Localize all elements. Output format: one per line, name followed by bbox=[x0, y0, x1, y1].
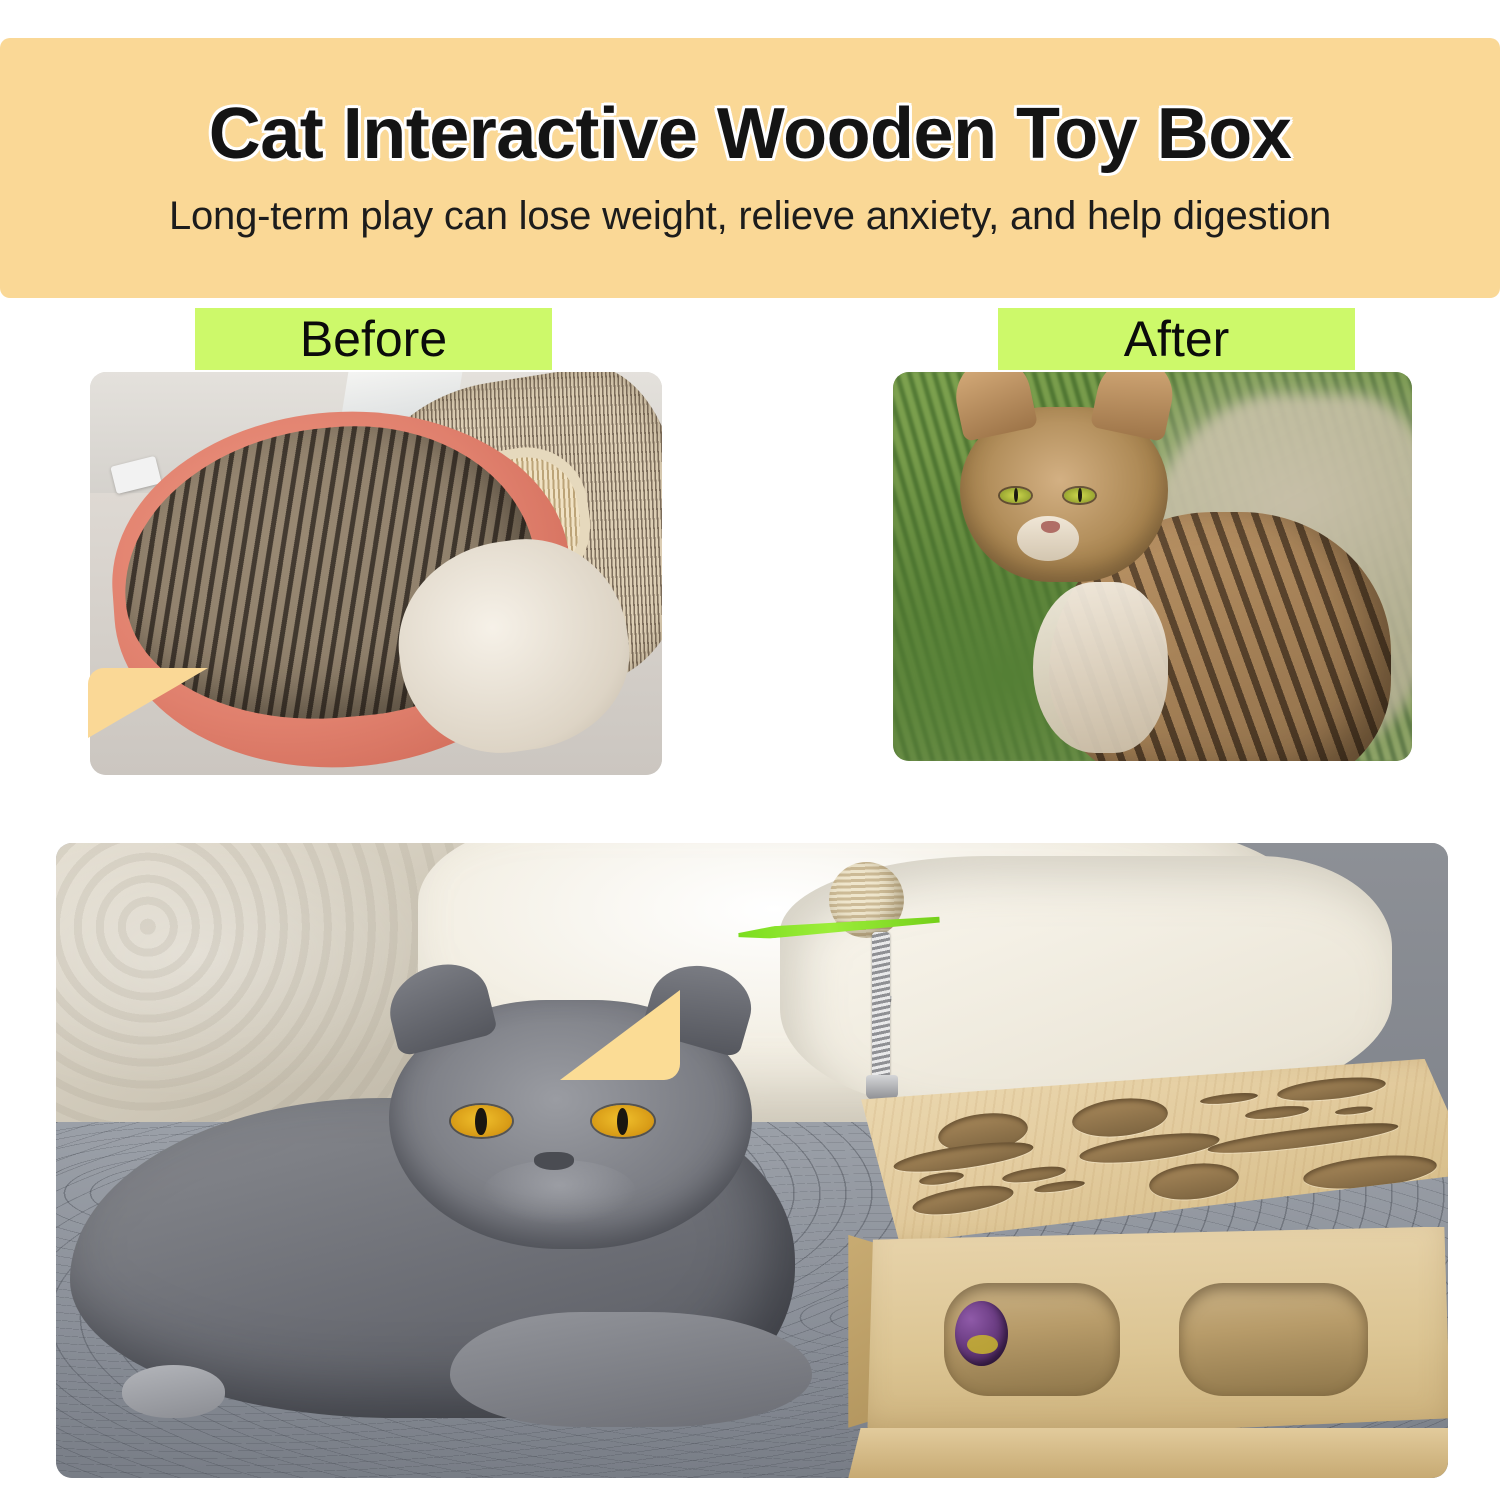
label-before: Before bbox=[300, 314, 447, 364]
main-product-photo bbox=[56, 843, 1448, 1478]
toy-box-hole bbox=[911, 1180, 1016, 1220]
photo-after bbox=[893, 372, 1412, 761]
toy-box-hole bbox=[1302, 1150, 1439, 1193]
label-after: After bbox=[1124, 314, 1230, 364]
toy-box-hole bbox=[1200, 1091, 1258, 1106]
after-photo-scene bbox=[893, 372, 1412, 761]
cat-eye-right bbox=[1064, 488, 1095, 504]
colored-ball-inside bbox=[955, 1301, 1008, 1366]
toy-box-hole bbox=[1148, 1159, 1241, 1203]
page-title: Cat Interactive Wooden Toy Box bbox=[209, 97, 1292, 173]
cat-eye-right bbox=[592, 1105, 654, 1137]
toy-box-hole bbox=[1335, 1105, 1374, 1116]
toy-box-opening bbox=[1179, 1283, 1368, 1396]
slim-tabby-head bbox=[960, 407, 1168, 582]
toy-box-base bbox=[848, 1428, 1448, 1478]
cat-paw bbox=[122, 1365, 226, 1418]
cat-head bbox=[389, 1000, 751, 1249]
toy-box-front-panel bbox=[861, 1227, 1448, 1445]
toy-box-hole bbox=[1277, 1074, 1387, 1106]
cat-eye-left bbox=[1000, 488, 1031, 504]
wooden-toy-box bbox=[836, 1059, 1448, 1478]
toy-box-hole bbox=[918, 1170, 964, 1187]
toy-box-hole bbox=[1034, 1179, 1086, 1195]
grey-british-shorthair-cat bbox=[70, 983, 933, 1428]
page-subtitle: Long-term play can lose weight, relieve … bbox=[169, 194, 1331, 239]
cat-nose bbox=[534, 1152, 574, 1169]
toy-box-hole bbox=[1206, 1117, 1399, 1159]
cat-eye-left bbox=[451, 1105, 513, 1137]
label-band-before: Before bbox=[195, 308, 552, 370]
toy-box-top-panel bbox=[836, 1059, 1448, 1243]
cat-front-leg bbox=[450, 1312, 812, 1428]
label-band-after: After bbox=[998, 308, 1355, 370]
before-photo-scene bbox=[90, 372, 662, 775]
coiled-spring bbox=[872, 932, 890, 1078]
toy-box-hole bbox=[1245, 1104, 1310, 1122]
photo-before bbox=[90, 372, 662, 775]
slim-tabby-chest bbox=[1033, 582, 1168, 753]
header-banner: Cat Interactive Wooden Toy Box Long-term… bbox=[0, 38, 1500, 298]
before-after-comparison: Before After bbox=[0, 300, 1500, 780]
